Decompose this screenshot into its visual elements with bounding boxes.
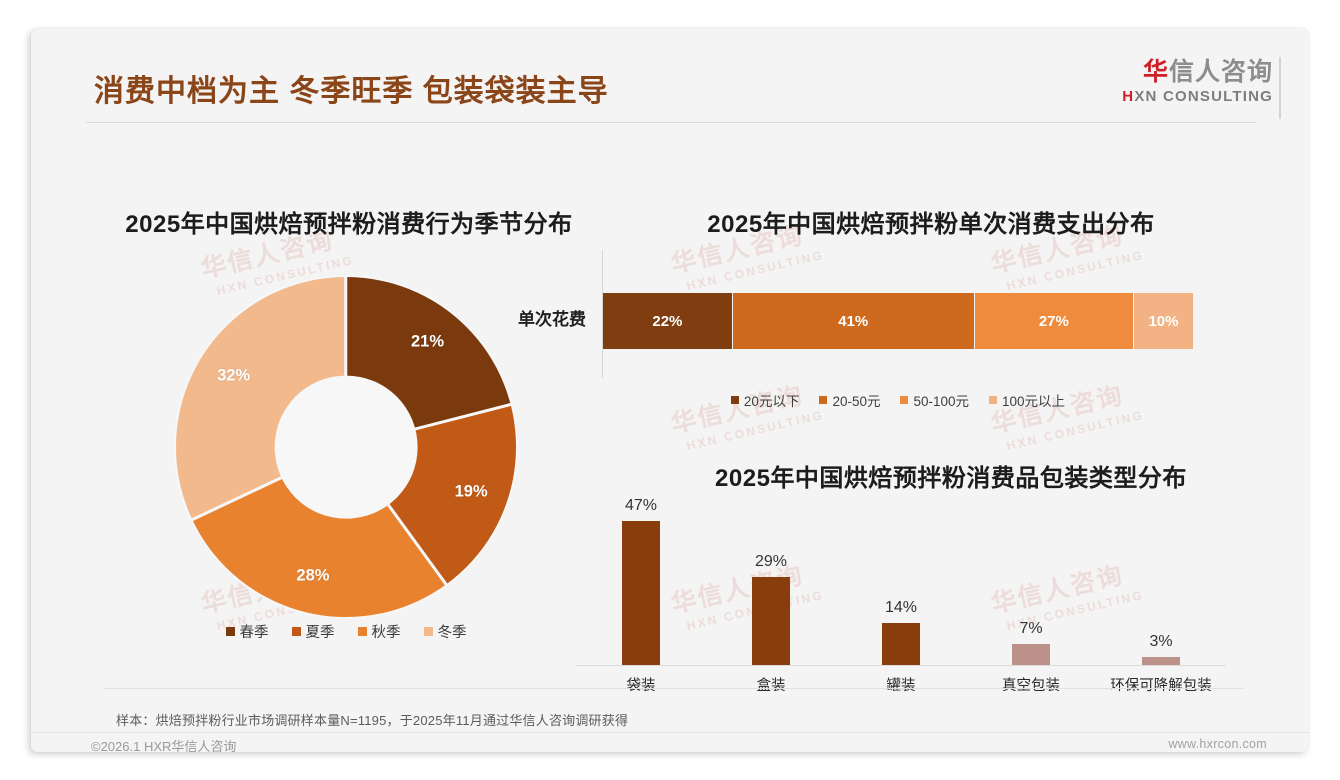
legend-swatch-icon <box>424 627 433 636</box>
column-group: 7% <box>966 506 1096 666</box>
stacked-bar-chart-title: 2025年中国烘焙预拌粉单次消费支出分布 <box>631 204 1231 239</box>
legend-label: 20-50元 <box>832 390 880 410</box>
column-group: 14% <box>836 506 966 666</box>
stacked-bar-segment-label: 22% <box>652 313 682 330</box>
legend-swatch-icon <box>358 627 367 636</box>
legend-label: 冬季 <box>438 621 467 642</box>
legend-item-秋季[interactable]: 秋季 <box>358 621 401 642</box>
column-value-label: 3% <box>1149 633 1172 651</box>
sample-note: 样本：烘焙预拌粉行业市场调研样本量N=1195，于2025年11月通过华信人咨询… <box>116 710 628 729</box>
column-group: 3% <box>1096 506 1226 666</box>
legend-swatch-icon <box>226 627 235 636</box>
legend-label: 100元以上 <box>1002 390 1065 410</box>
column-category-label: 真空包装 <box>966 674 1096 695</box>
legend-label: 秋季 <box>372 621 401 642</box>
watermark: 华信人咨询HXN CONSULTING <box>667 372 825 456</box>
donut-slice-label: 19% <box>455 483 488 502</box>
watermark-line2: HXN CONSULTING <box>685 408 825 453</box>
column-bar-真空包装[interactable] <box>1012 644 1050 666</box>
legend-swatch-icon <box>900 396 908 404</box>
logo-chinese-rest: 信人咨询 <box>1169 58 1273 86</box>
legend-label: 春季 <box>240 621 269 642</box>
legend-item-20-50元[interactable]: 20-50元 <box>819 390 880 410</box>
stacked-bar-legend: 20元以下20-50元50-100元100元以上 <box>603 390 1193 410</box>
stacked-bar-segment-20元以下[interactable]: 22% <box>603 293 733 349</box>
stacked-bar-series: 22%41%27%10% <box>603 293 1193 349</box>
column-category-label: 袋装 <box>576 674 706 695</box>
header-divider <box>86 122 1256 123</box>
stacked-bar-segment-100元以上[interactable]: 10% <box>1134 293 1193 349</box>
column-value-label: 14% <box>885 599 917 617</box>
logo-chinese-text: 华信人咨询 <box>1097 59 1273 85</box>
donut-slice-divider <box>345 275 348 447</box>
legend-item-夏季[interactable]: 夏季 <box>292 621 335 642</box>
column-value-label: 47% <box>625 497 657 515</box>
donut-slice-label: 28% <box>296 566 329 585</box>
column-group: 29% <box>706 506 836 666</box>
note-divider <box>103 688 1243 689</box>
logo-english-text: HXN CONSULTING <box>1097 88 1273 105</box>
copyright-text: ©2026.1 HXR华信人咨询 <box>91 736 236 752</box>
watermark: 华信人咨询HXN CONSULTING <box>987 372 1145 456</box>
website-url[interactable]: www.hxrcon.com <box>1168 737 1267 751</box>
column-category-label: 盒装 <box>706 674 836 695</box>
donut-slice-label: 32% <box>217 366 250 385</box>
watermark-line2: HXN CONSULTING <box>685 248 825 293</box>
slide-card: 消费中档为主 冬季旺季 包装袋装主导 华信人咨询 HXN CONSULTING … <box>31 28 1309 752</box>
logo-divider <box>1279 57 1281 119</box>
column-category-label: 罐装 <box>836 674 966 695</box>
legend-item-100元以上[interactable]: 100元以上 <box>989 390 1065 410</box>
legend-swatch-icon <box>819 396 827 404</box>
column-chart-baseline <box>576 665 1226 666</box>
stacked-bar-segment-20-50元[interactable]: 41% <box>733 293 975 349</box>
column-group: 47% <box>576 506 706 666</box>
logo-english-rest: XN CONSULTING <box>1134 88 1273 105</box>
legend-label: 20元以下 <box>744 390 800 410</box>
legend-item-春季[interactable]: 春季 <box>226 621 269 642</box>
stacked-bar-category-label: 单次花费 <box>476 305 586 330</box>
stacked-bar-segment-label: 27% <box>1039 313 1069 330</box>
legend-label: 夏季 <box>306 621 335 642</box>
column-value-label: 29% <box>755 553 787 571</box>
column-bar-袋装[interactable] <box>622 521 660 666</box>
legend-item-20元以下[interactable]: 20元以下 <box>731 390 800 410</box>
donut-chart: 21%19%28%32% <box>174 275 518 619</box>
column-chart-title: 2025年中国烘焙预拌粉消费品包装类型分布 <box>651 458 1251 493</box>
legend-item-冬季[interactable]: 冬季 <box>424 621 467 642</box>
legend-swatch-icon <box>731 396 739 404</box>
column-category-label: 环保可降解包装 <box>1096 674 1226 695</box>
stacked-bar-segment-label: 10% <box>1148 313 1178 330</box>
logo-english-red: H <box>1122 88 1134 105</box>
donut-slice-label: 21% <box>411 332 444 351</box>
column-bar-罐装[interactable] <box>882 623 920 666</box>
stacked-bar-segment-label: 41% <box>838 313 868 330</box>
watermark-line2: HXN CONSULTING <box>1005 248 1145 293</box>
stacked-bar-segment-50-100元[interactable]: 27% <box>975 293 1134 349</box>
column-bar-盒装[interactable] <box>752 577 790 666</box>
column-chart-plot: 47%29%14%7%3% <box>576 506 1226 666</box>
page-title: 消费中档为主 冬季旺季 包装袋装主导 <box>94 66 609 110</box>
column-value-label: 7% <box>1019 620 1042 638</box>
legend-label: 50-100元 <box>913 390 969 410</box>
legend-swatch-icon <box>292 627 301 636</box>
donut-chart-legend: 春季夏季秋季冬季 <box>174 621 518 642</box>
watermark-line2: HXN CONSULTING <box>1005 408 1145 453</box>
slide-header: 消费中档为主 冬季旺季 包装袋装主导 华信人咨询 HXN CONSULTING <box>31 28 1309 123</box>
legend-swatch-icon <box>989 396 997 404</box>
logo-chinese-red: 华 <box>1143 58 1169 86</box>
donut-chart-title: 2025年中国烘焙预拌粉消费行为季节分布 <box>89 204 609 239</box>
legend-item-50-100元[interactable]: 50-100元 <box>900 390 969 410</box>
company-logo: 华信人咨询 HXN CONSULTING <box>1097 59 1273 105</box>
